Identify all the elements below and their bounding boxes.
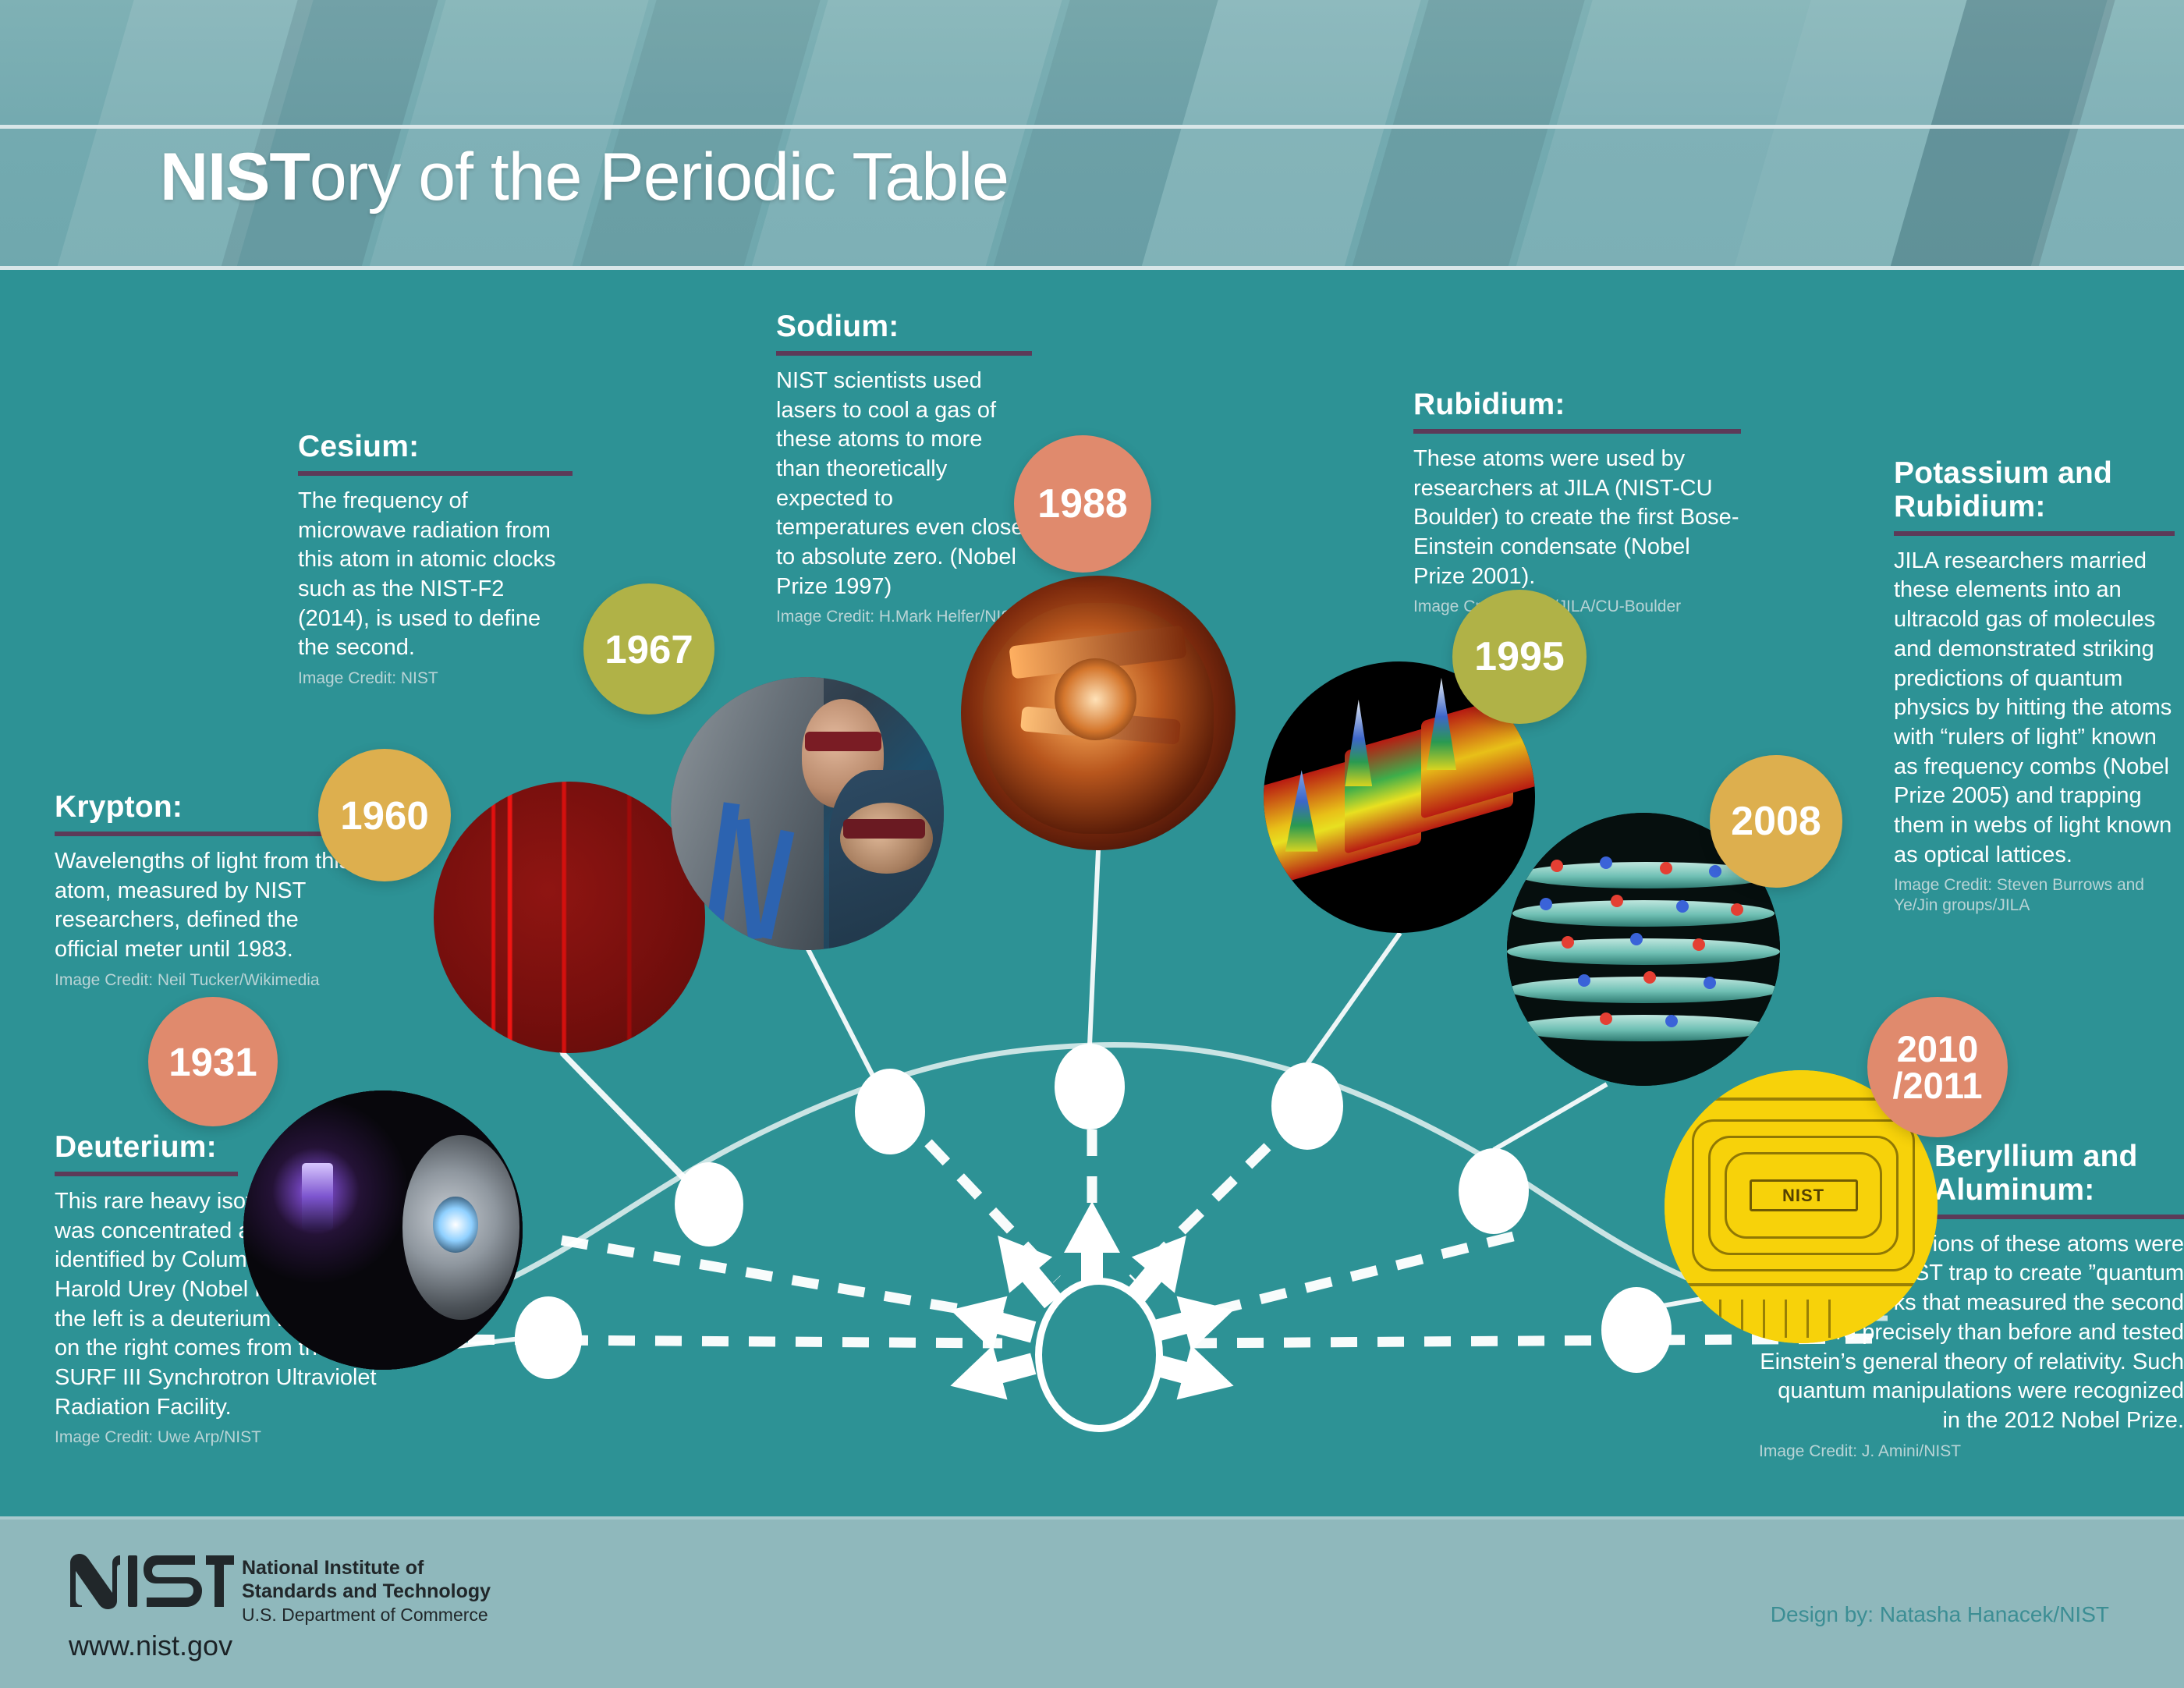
timeline-node[interactable] (1601, 1287, 1672, 1373)
year-label: 1967 (604, 629, 693, 669)
year-bubble-1995[interactable]: 1995 (1452, 590, 1587, 724)
cesium-researchers-photo (671, 677, 944, 950)
year-bubble-2008[interactable]: 2008 (1710, 755, 1842, 888)
year-bubble-1931[interactable]: 1931 (148, 997, 278, 1126)
hub-arrow (943, 1336, 1041, 1413)
year-bubble-1967[interactable]: 1967 (583, 583, 714, 715)
year-label-line2: /2011 (1892, 1067, 1982, 1104)
year-bubble-1988[interactable]: 1988 (1014, 435, 1151, 573)
year-label: 1931 (168, 1042, 257, 1082)
year-label: 2008 (1731, 801, 1821, 842)
timeline-node[interactable] (515, 1296, 582, 1379)
year-label: 1988 (1037, 484, 1128, 524)
sodium-laser-cooling-photo (961, 576, 1236, 850)
timeline-node[interactable] (1055, 1044, 1125, 1129)
year-label: 1995 (1474, 637, 1565, 677)
year-label-line1: 2010 (1892, 1030, 1982, 1067)
timeline-node[interactable] (855, 1069, 925, 1154)
dashed-spoke (1178, 1236, 1513, 1320)
deuterium-lamp-photo (243, 1090, 523, 1370)
timeline-node[interactable] (675, 1162, 743, 1246)
infographic-poster: NISTory of the Periodic Table (0, 0, 2184, 1688)
year-label: 1960 (340, 796, 428, 835)
timeline-hub-node[interactable] (1035, 1278, 1163, 1432)
stem-line (1090, 850, 1098, 1045)
timeline-node[interactable] (1459, 1148, 1529, 1234)
year-bubble-1960[interactable]: 1960 (318, 749, 451, 881)
krypton-spectrum-photo (434, 782, 705, 1053)
stem-line (1494, 1084, 1607, 1150)
dashed-spoke (562, 1240, 1014, 1318)
year-bubble-2010-2011[interactable]: 2010 /2011 (1867, 997, 2008, 1137)
timeline-node[interactable] (1271, 1062, 1343, 1150)
hub-arrow-up (1064, 1201, 1120, 1287)
chip-nist-mark: NIST (1750, 1179, 1858, 1211)
stem-line (1307, 933, 1400, 1064)
